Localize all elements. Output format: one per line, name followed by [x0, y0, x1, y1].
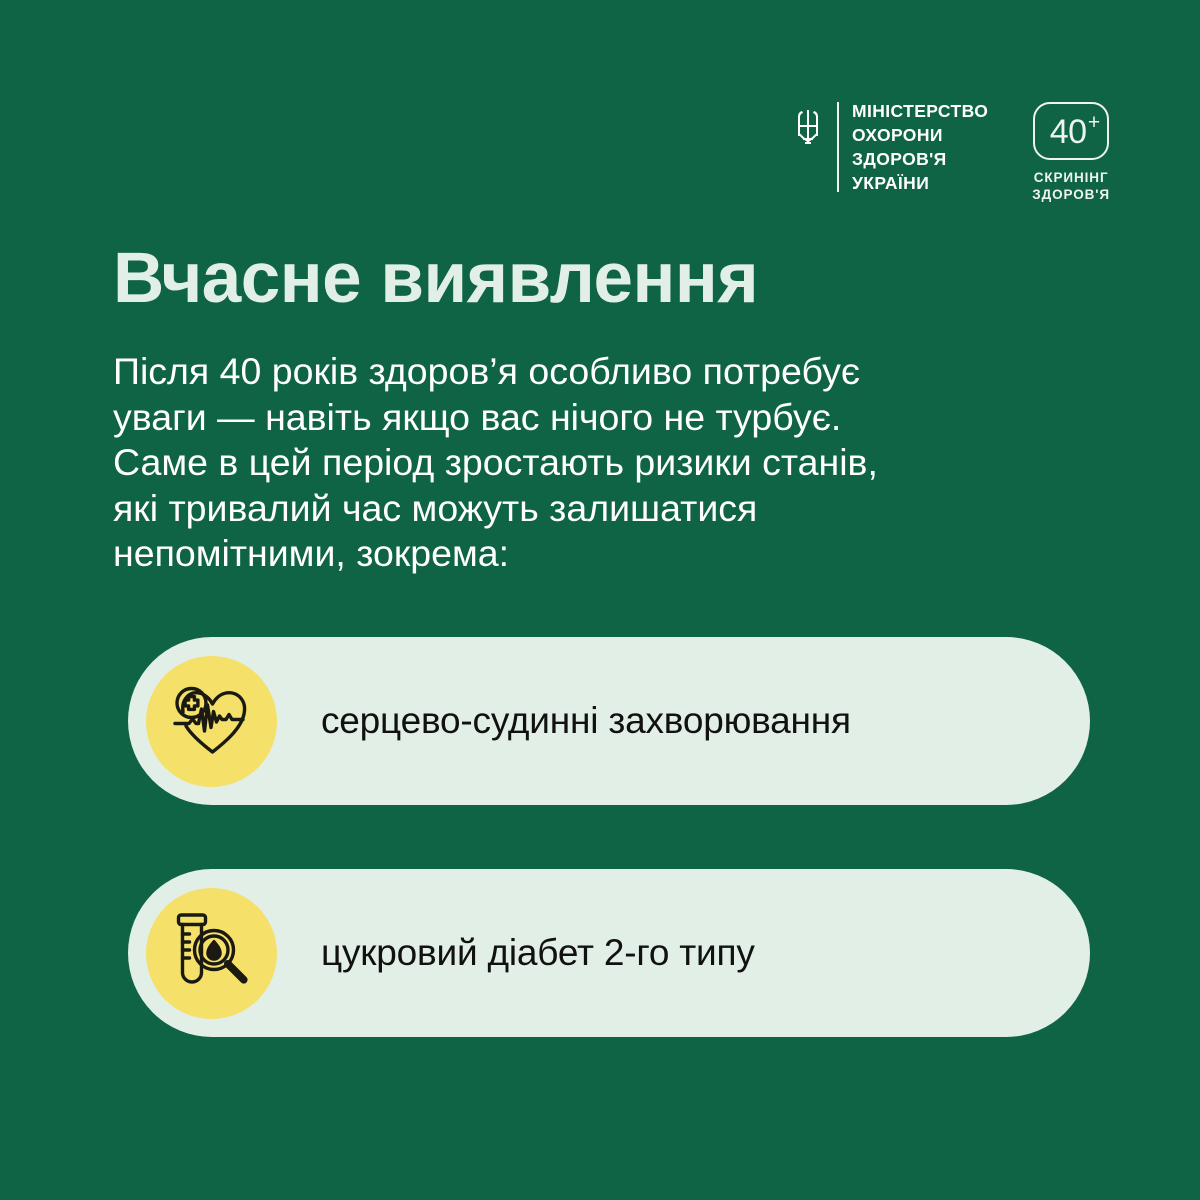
- poster: МІНІСТЕРСТВО ОХОРОНИ ЗДОРОВ'Я УКРАЇНИ 40…: [0, 0, 1200, 1200]
- logo-divider: [837, 102, 839, 192]
- card-label: цукровий діабет 2-го типу: [321, 931, 755, 975]
- screening-caption: СКРИНІНГ ЗДОРОВ'Я: [1032, 169, 1110, 203]
- screening-line-1: СКРИНІНГ: [1032, 169, 1110, 186]
- intro-line-5: непомітними, зокрема:: [113, 531, 1073, 577]
- age-number: 40: [1050, 115, 1087, 149]
- ministry-line-2: ОХОРОНИ: [852, 124, 988, 147]
- ukraine-trident-icon: [794, 100, 824, 194]
- plus-sign: +: [1088, 112, 1100, 133]
- heart-pulse-cross-icon: [146, 656, 277, 787]
- ministry-line-4: УКРАЇНИ: [852, 172, 988, 195]
- intro-line-3: Саме в цей період зростають ризики стані…: [113, 440, 1073, 486]
- screening-40-plus-logo: 40 + СКРИНІНГ ЗДОРОВ'Я: [1032, 100, 1110, 203]
- test-tube-magnifier-blood-drop-icon: [146, 888, 277, 1019]
- age-badge: 40 +: [1033, 102, 1109, 160]
- ministry-line-3: ЗДОРОВ'Я: [852, 148, 988, 171]
- page-title: Вчасне виявлення: [113, 240, 758, 318]
- intro-line-1: Після 40 років здоров’я особливо потребу…: [113, 349, 1073, 395]
- condition-card-list: серцево-судинні захворювання: [128, 637, 1090, 1037]
- intro-paragraph: Після 40 років здоров’я особливо потребу…: [113, 349, 1073, 577]
- ministry-line-1: МІНІСТЕРСТВО: [852, 100, 988, 123]
- card-cardiovascular-disease: серцево-судинні захворювання: [128, 637, 1090, 805]
- screening-line-2: ЗДОРОВ'Я: [1032, 186, 1110, 203]
- intro-line-4: які тривалий час можуть залишатися: [113, 486, 1073, 532]
- header: МІНІСТЕРСТВО ОХОРОНИ ЗДОРОВ'Я УКРАЇНИ 40…: [794, 100, 1110, 203]
- ministry-of-health-logo: МІНІСТЕРСТВО ОХОРОНИ ЗДОРОВ'Я УКРАЇНИ: [794, 100, 988, 194]
- ministry-name: МІНІСТЕРСТВО ОХОРОНИ ЗДОРОВ'Я УКРАЇНИ: [852, 100, 988, 194]
- card-label: серцево-судинні захворювання: [321, 699, 851, 743]
- card-type-2-diabetes: цукровий діабет 2-го типу: [128, 869, 1090, 1037]
- intro-line-2: уваги — навіть якщо вас нічого не турбує…: [113, 395, 1073, 441]
